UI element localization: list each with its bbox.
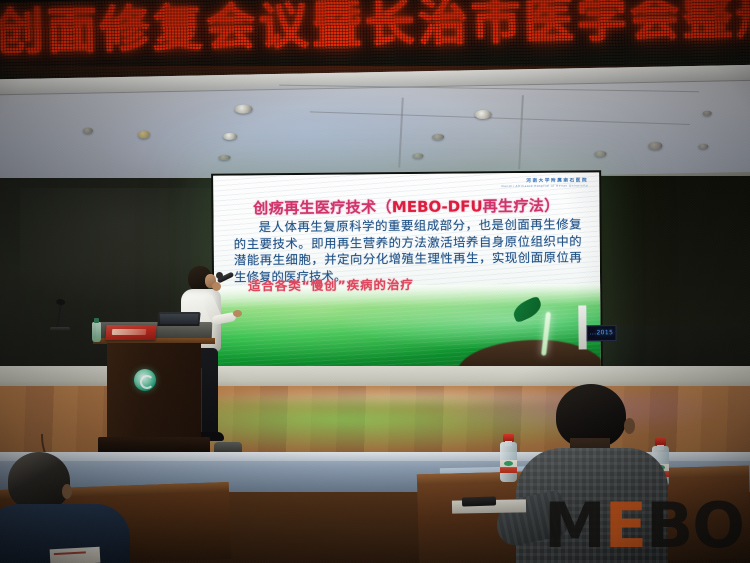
slide-highlight-text: 适合各类“慢创”疾病的治疗 xyxy=(248,275,414,294)
audience-head xyxy=(8,452,70,510)
back-wall-right xyxy=(588,176,750,326)
hospital-logo-en: Nanshi Affiliated Hospital of Henan Univ… xyxy=(501,185,588,190)
device-on-desk xyxy=(462,496,496,506)
watermark-m: M xyxy=(544,489,605,562)
audience-member-left xyxy=(0,452,129,563)
hospital-emblem-icon xyxy=(134,369,156,391)
microphone-base xyxy=(50,327,70,331)
watermark: MEBO xyxy=(544,495,744,557)
ceiling-spotlight-icon xyxy=(648,142,662,150)
watermark-e: E xyxy=(605,489,646,562)
lectern-water-bottle xyxy=(92,322,101,342)
audience-ear xyxy=(624,418,635,434)
projection-screen: 河南大学附属南石医院 Nanshi Affiliated Hospital of… xyxy=(211,170,603,374)
presenter-hand xyxy=(212,282,221,291)
small-led-panel: ...2015 xyxy=(586,325,616,341)
slide-background-photo xyxy=(214,283,601,372)
led-banner-text: 创面修复会议暨长治市医学会整形美容专业委 xyxy=(0,0,750,59)
ceiling-spotlight-icon xyxy=(594,151,606,157)
lectern-body xyxy=(107,343,201,439)
slide-title: 创疡再生医疗技术（MEBO-DFU再生疗法） xyxy=(213,194,599,218)
audience-handout xyxy=(50,547,101,563)
slide-title-main: 创疡再生医疗技术（ xyxy=(253,198,392,217)
presenter-pointing-hand xyxy=(233,310,242,317)
ceiling-spotlight-icon xyxy=(698,144,708,149)
hospital-logo: 河南大学附属南石医院 Nanshi Affiliated Hospital of… xyxy=(501,178,588,189)
laptop-screen xyxy=(160,314,198,324)
ceiling-spotlight-icon xyxy=(703,111,712,116)
name-card xyxy=(105,325,156,340)
screen-right-strip xyxy=(578,305,586,349)
microphone-head-icon xyxy=(216,272,223,279)
presentation-slide: 河南大学附属南石医院 Nanshi Affiliated Hospital of… xyxy=(213,172,601,372)
watermark-bo: BO xyxy=(646,489,744,562)
slide-title-mebo: MEBO-DFU xyxy=(392,197,483,216)
small-led-panel-text: ...2015 xyxy=(590,329,614,336)
lectern xyxy=(96,322,212,462)
ceiling-spotlight-icon xyxy=(83,128,93,134)
slide-title-tail: 再生疗法） xyxy=(483,197,560,216)
conference-photo-scene: 创面修复会议暨长治市医学会整形美容专业委 xyxy=(0,0,750,563)
audience-ear xyxy=(62,484,72,499)
